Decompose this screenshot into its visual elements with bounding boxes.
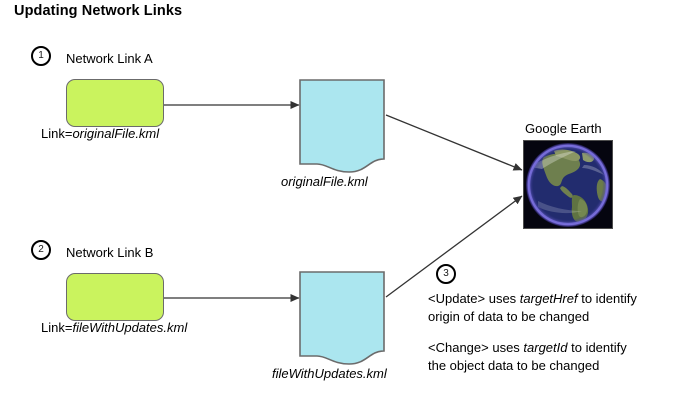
diagram-canvas: Updating Network Links 1 Network Link A … <box>0 0 688 411</box>
step-marker-3-label: 3 <box>443 269 449 279</box>
network-link-b-box[interactable] <box>66 273 164 321</box>
google-earth-image[interactable] <box>523 140 613 229</box>
network-link-b-link-value: fileWithUpdates.kml <box>72 320 187 335</box>
note-update-line1-post: to identify <box>578 291 637 306</box>
network-link-a-link-label: Link=originalFile.kml <box>41 126 159 141</box>
original-file-doc[interactable] <box>299 79 385 184</box>
network-link-a-link-value: originalFile.kml <box>72 126 159 141</box>
original-file-label: originalFile.kml <box>281 174 368 189</box>
page-title: Updating Network Links <box>14 3 182 19</box>
step-marker-1-label: 1 <box>38 51 44 61</box>
step-marker-2: 2 <box>31 240 51 260</box>
globe-earth-icon <box>524 141 612 228</box>
note-change-line1-pre: <Change> uses <box>428 340 523 355</box>
network-link-b-link-prefix: Link= <box>41 320 72 335</box>
step-marker-1: 1 <box>31 46 51 66</box>
document-shape-icon <box>299 271 385 371</box>
network-link-a-title: Network Link A <box>66 51 153 66</box>
note-change-line1: <Change> uses targetId to identify <box>428 339 627 357</box>
network-link-a-box[interactable] <box>66 79 164 127</box>
file-with-updates-label: fileWithUpdates.kml <box>272 366 387 381</box>
step-marker-3: 3 <box>436 264 456 284</box>
note-change-line1-em: targetId <box>523 340 567 355</box>
document-shape-icon <box>299 79 385 179</box>
network-link-b-title: Network Link B <box>66 245 153 260</box>
note-update-line1: <Update> uses targetHref to identify <box>428 290 637 308</box>
file-with-updates-doc[interactable] <box>299 271 385 376</box>
network-link-b-link-label: Link=fileWithUpdates.kml <box>41 320 187 335</box>
network-link-a-link-prefix: Link= <box>41 126 72 141</box>
note-update-line2: origin of data to be changed <box>428 308 637 326</box>
note-update: <Update> uses targetHref to identify ori… <box>428 290 637 326</box>
step-marker-2-label: 2 <box>38 245 44 255</box>
note-update-line1-em: targetHref <box>520 291 578 306</box>
arrow-original-file-to-google-earth <box>386 115 522 170</box>
arrow-file-with-updates-to-google-earth <box>386 196 522 297</box>
note-update-line1-pre: <Update> uses <box>428 291 520 306</box>
note-change-line1-post: to identify <box>568 340 627 355</box>
note-change: <Change> uses targetId to identify the o… <box>428 339 627 375</box>
google-earth-label: Google Earth <box>525 121 602 136</box>
note-change-line2: the object data to be changed <box>428 357 627 375</box>
